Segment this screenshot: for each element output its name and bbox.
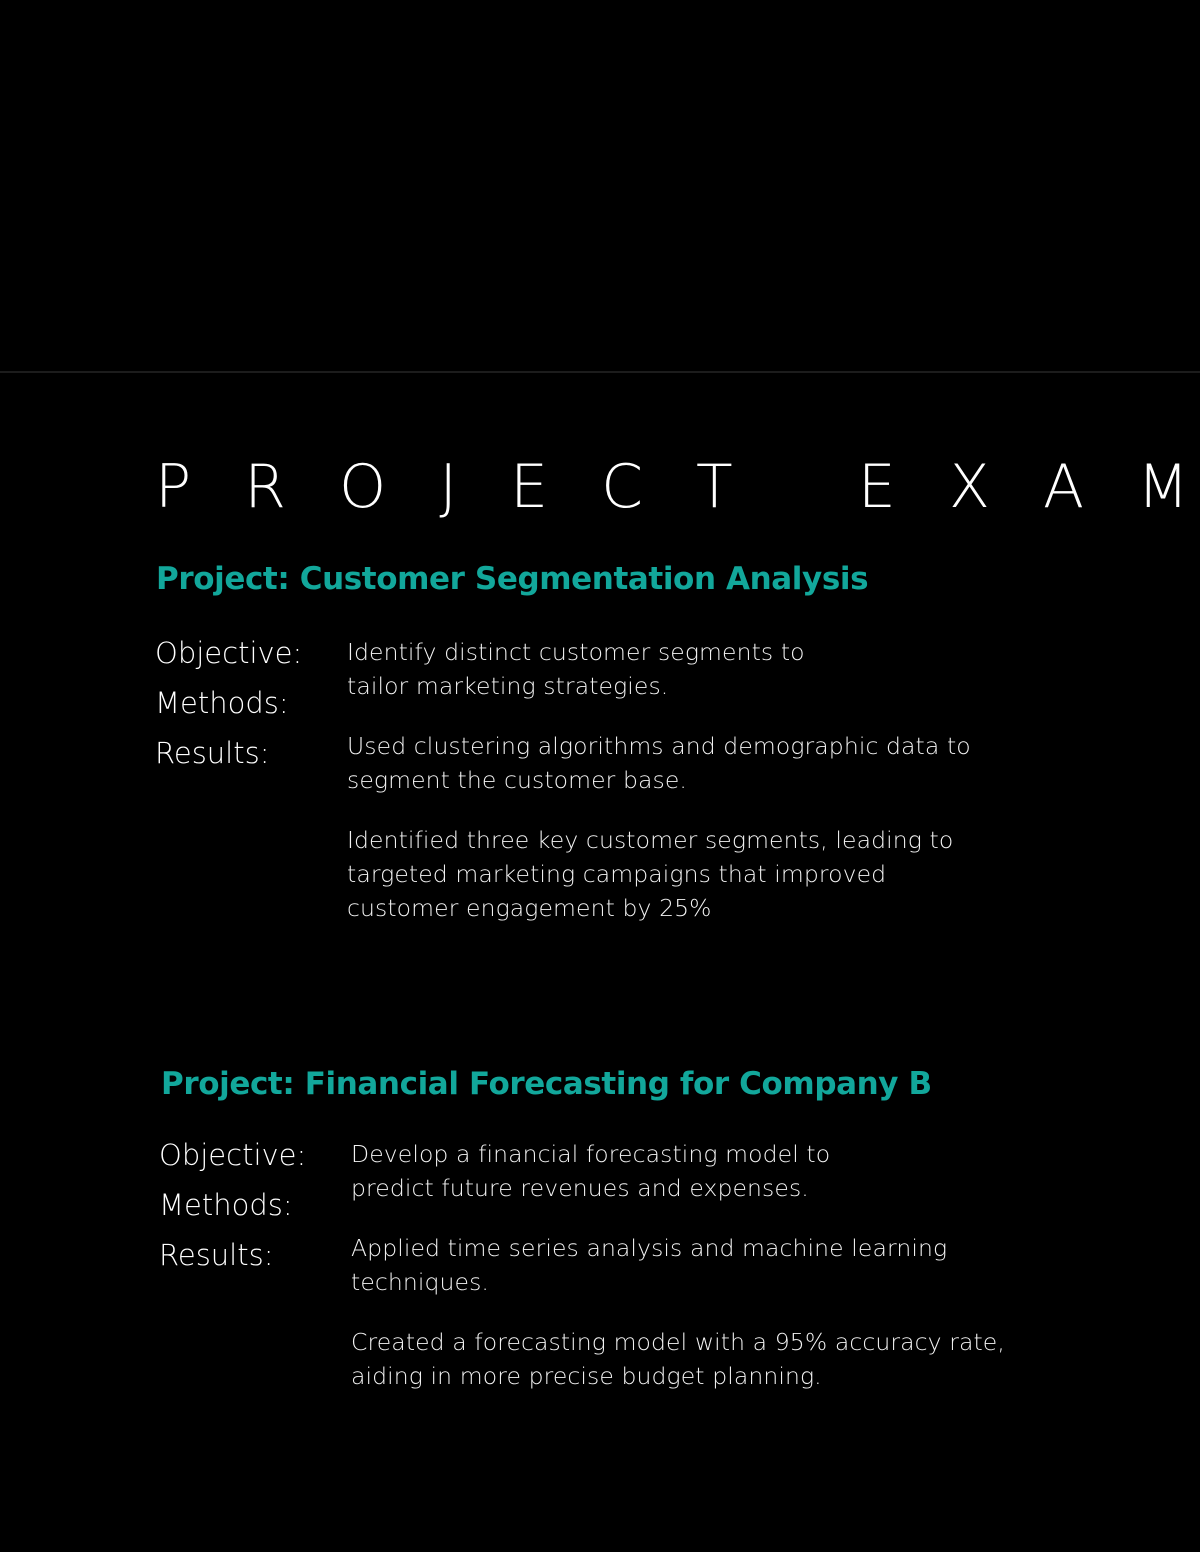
label-results: Results: xyxy=(159,1230,306,1280)
header-divider xyxy=(0,371,1200,373)
objective-text: Identify distinct customer segments to t… xyxy=(347,635,1087,703)
slide-canvas: P R O J E C T E X A M P L E S Project: C… xyxy=(0,0,1200,1552)
project-heading: Project: Customer Segmentation Analysis xyxy=(156,559,868,599)
project-body-column: Develop a financial forecasting model to… xyxy=(351,1137,1091,1393)
project-label-column: Objective: Methods: Results: xyxy=(155,628,302,778)
label-objective: Objective: xyxy=(155,628,302,678)
project-body-column: Identify distinct customer segments to t… xyxy=(347,635,1087,925)
label-objective: Objective: xyxy=(159,1130,306,1180)
page-title: P R O J E C T E X A M P L E S xyxy=(155,451,1115,523)
label-methods: Methods: xyxy=(159,1180,306,1230)
label-results: Results: xyxy=(155,728,302,778)
project-label-column: Objective: Methods: Results: xyxy=(159,1130,306,1280)
methods-text: Used clustering algorithms and demograph… xyxy=(347,729,1087,797)
methods-text: Applied time series analysis and machine… xyxy=(351,1231,1091,1299)
label-methods: Methods: xyxy=(155,678,302,728)
objective-text: Develop a financial forecasting model to… xyxy=(351,1137,1091,1205)
project-heading: Project: Financial Forecasting for Compa… xyxy=(161,1064,932,1104)
results-text: Identified three key customer segments, … xyxy=(347,823,1087,925)
results-text: Created a forecasting model with a 95% a… xyxy=(351,1325,1091,1393)
